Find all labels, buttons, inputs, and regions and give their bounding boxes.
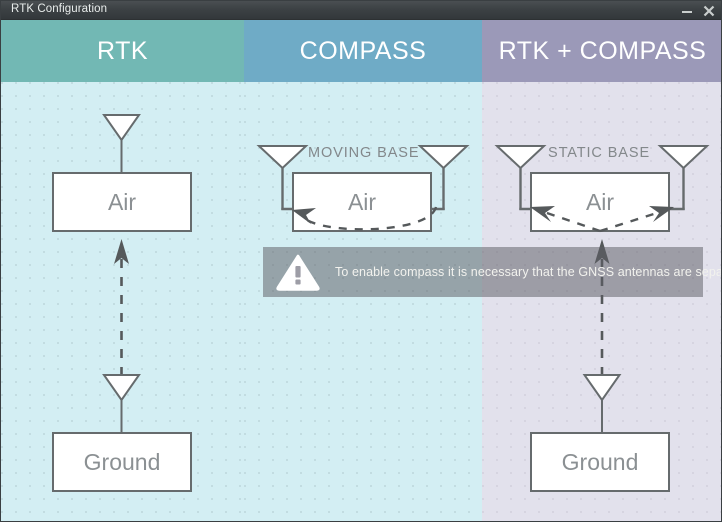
tab-rtk[interactable]: RTK bbox=[1, 20, 244, 82]
rtk-link-arrow bbox=[114, 239, 129, 376]
window-title: RTK Configuration bbox=[11, 3, 107, 15]
node-air-rtk[interactable]: Air bbox=[52, 172, 192, 232]
tab-rtk-label: RTK bbox=[97, 37, 148, 66]
tab-rtk-compass-label: RTK + COMPASS bbox=[499, 37, 707, 66]
rtk-compass-link-arrow bbox=[482, 82, 722, 522]
title-bar: RTK Configuration bbox=[1, 1, 722, 20]
antenna-air-icon bbox=[104, 115, 139, 172]
close-icon bbox=[702, 5, 716, 17]
close-button[interactable] bbox=[699, 1, 719, 20]
node-ground-rtk-label: Ground bbox=[84, 449, 161, 476]
antenna-ground-icon bbox=[104, 375, 139, 432]
tab-rtk-compass[interactable]: RTK + COMPASS bbox=[482, 20, 722, 82]
tab-compass-label: COMPASS bbox=[300, 37, 427, 66]
node-air-rtk-label: Air bbox=[108, 189, 136, 216]
warning-triangle-icon bbox=[276, 253, 320, 291]
minimize-button[interactable] bbox=[677, 1, 697, 20]
panel-rtk: Air Ground bbox=[1, 82, 244, 522]
tab-compass[interactable]: COMPASS bbox=[244, 20, 482, 82]
rtk-configuration-window: RTK Configuration RTK COMPASS RTK + COMP… bbox=[0, 0, 722, 522]
compass-link-arrow bbox=[244, 82, 482, 522]
panel-rtk-compass: STATIC BASE Air Ground bbox=[482, 82, 722, 522]
warning-message: To enable compass it is necessary that t… bbox=[335, 265, 722, 279]
node-ground-rtk[interactable]: Ground bbox=[52, 432, 192, 492]
panel-compass: MOVING BASE Air bbox=[244, 82, 482, 522]
warning-banner: To enable compass it is necessary that t… bbox=[263, 247, 703, 297]
minimize-icon bbox=[680, 5, 694, 17]
